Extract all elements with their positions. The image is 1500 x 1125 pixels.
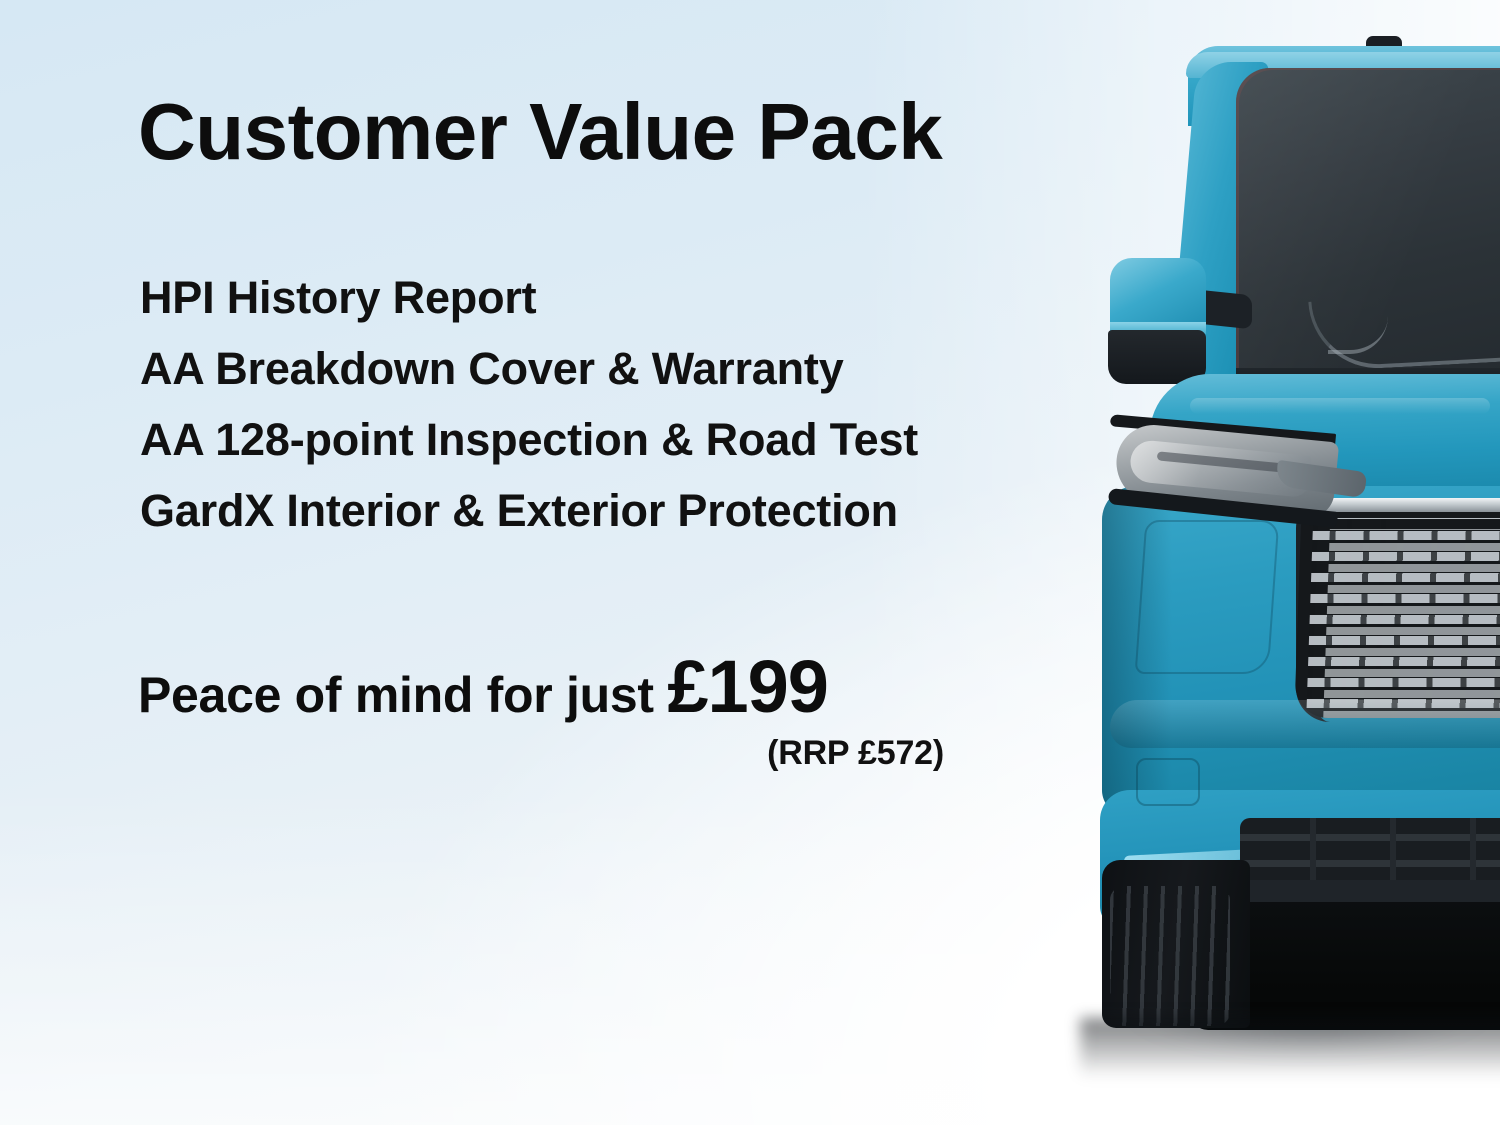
intake-slat — [1240, 834, 1500, 841]
vehicle-grille — [1294, 502, 1500, 718]
grille-chrome-strip — [1324, 498, 1500, 512]
price-headline: Peace of mind for just £199 — [138, 650, 944, 724]
ground-contact-shadow — [1080, 1018, 1500, 1078]
price-amount: £199 — [667, 645, 828, 728]
fog-lamp-recess — [1136, 758, 1200, 806]
vehicle-windshield — [1236, 68, 1500, 388]
bumper-crease — [1110, 700, 1500, 748]
list-item: HPI History Report — [140, 262, 918, 333]
list-item: AA 128-point Inspection & Road Test — [140, 404, 918, 475]
front-splitter — [1220, 880, 1500, 902]
list-item: AA Breakdown Cover & Warranty — [140, 333, 918, 404]
list-item: GardX Interior & Exterior Protection — [140, 475, 918, 546]
price-block: Peace of mind for just £199 (RRP £572) — [138, 650, 944, 773]
feature-list: HPI History Report AA Breakdown Cover & … — [140, 262, 918, 546]
intake-slat — [1240, 860, 1500, 867]
grille-mesh-layer-2 — [1323, 529, 1500, 718]
bumper-panel-line — [1135, 520, 1280, 674]
rrp-note: (RRP £572) — [138, 734, 944, 773]
page-title: Customer Value Pack — [138, 92, 942, 172]
price-lead-text: Peace of mind for just — [138, 667, 667, 723]
tyre-tread — [1110, 886, 1230, 1026]
promo-banner: Customer Value Pack HPI History Report A… — [0, 0, 1500, 1125]
hood-crease — [1190, 398, 1490, 414]
vehicle-image — [1040, 0, 1500, 1125]
